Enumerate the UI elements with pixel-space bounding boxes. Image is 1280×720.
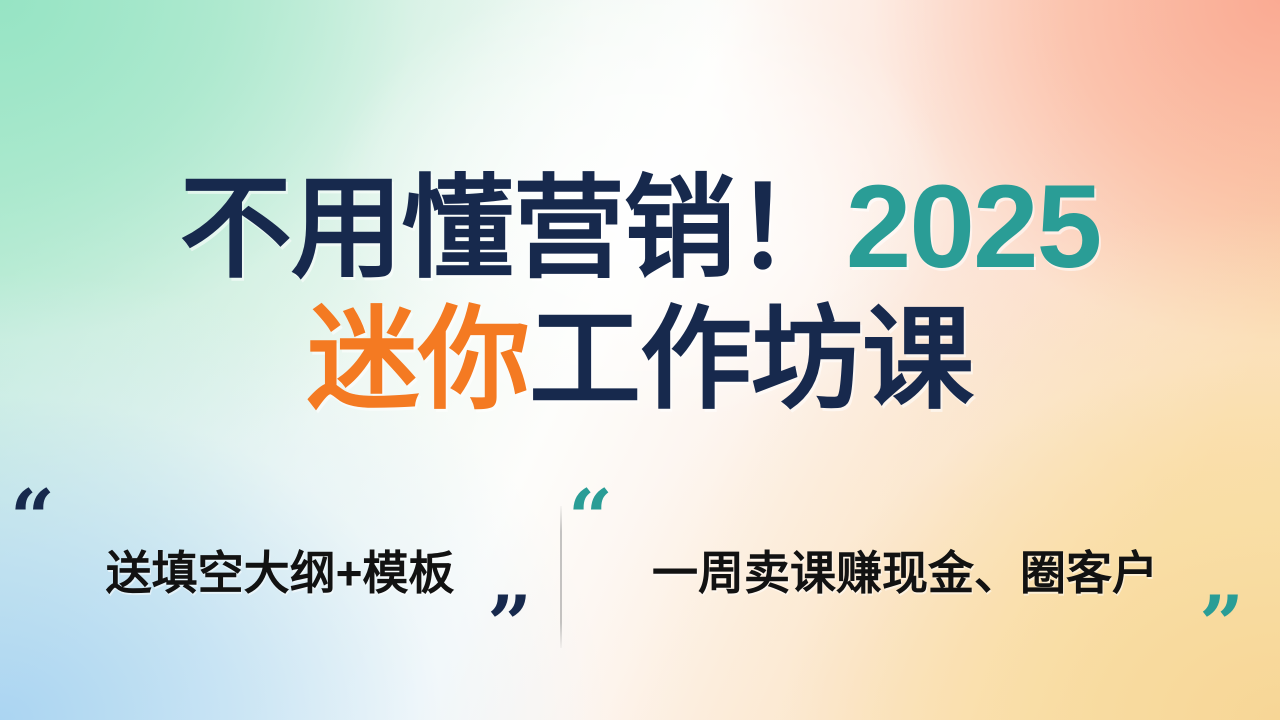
- headline-line-1: 不用懂营销！2025: [0, 168, 1280, 286]
- quote-close-icon: ”: [487, 586, 532, 664]
- subtitle-right-text: 一周卖课赚现金、圈客户: [652, 537, 1158, 603]
- headline-line-2: 迷你工作坊课: [0, 304, 1280, 416]
- subtitle-block-left: “ 送填空大纲+模板 ”: [0, 480, 560, 660]
- subtitle-block-right: “ 一周卖课赚现金、圈客户 ”: [560, 480, 1250, 660]
- quote-close-icon: ”: [1199, 586, 1244, 664]
- headline-segment-workshop: 工作坊课: [529, 297, 973, 422]
- headline-segment-tagline: 不用懂营销！: [180, 166, 846, 291]
- headline: 不用懂营销！2025 迷你工作坊课: [0, 168, 1280, 416]
- headline-segment-mini: 迷你: [307, 297, 529, 422]
- quote-open-icon: “: [568, 480, 613, 558]
- headline-segment-year: 2025: [846, 161, 1101, 293]
- subtitle-row: “ 送填空大纲+模板 ” “ 一周卖课赚现金、圈客户 ”: [0, 480, 1280, 680]
- promo-banner: 不用懂营销！2025 迷你工作坊课 “ 送填空大纲+模板 ” “ 一周卖课赚现金…: [0, 0, 1280, 720]
- subtitle-left-text: 送填空大纲+模板: [106, 537, 455, 603]
- quote-open-icon: “: [10, 480, 55, 558]
